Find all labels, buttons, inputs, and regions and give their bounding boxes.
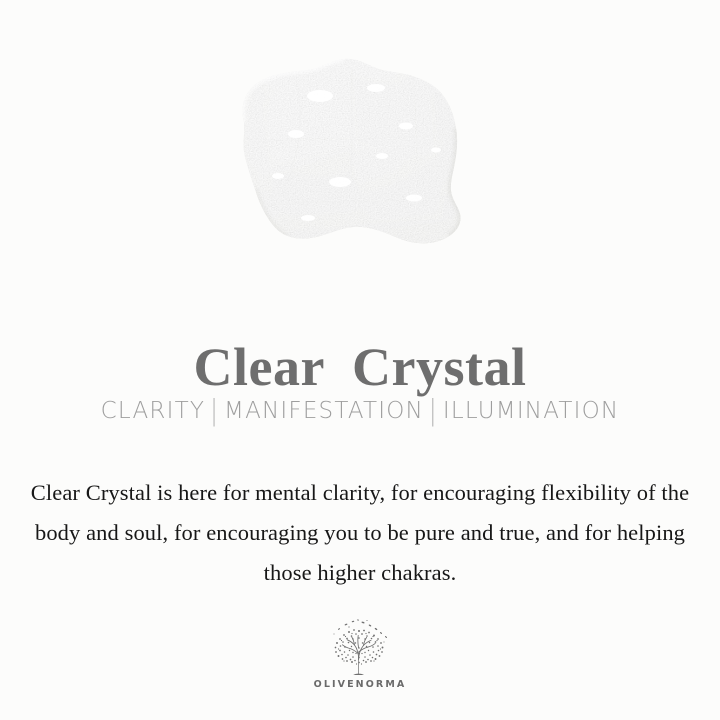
- product-description: Clear Crystal is here for mental clarity…: [28, 473, 692, 593]
- keyword-separator-2: |: [424, 393, 443, 430]
- keyword-illumination: ILLUMINATION: [443, 398, 619, 424]
- crystal-illustration: [200, 30, 490, 265]
- brand-logo: OLIVENORMA: [0, 618, 720, 690]
- crystal-image: [200, 30, 490, 265]
- product-info-card: Clear Crystal CLARITY|MANIFESTATION|ILLU…: [0, 0, 720, 720]
- keyword-separator-1: |: [205, 393, 224, 430]
- page-title: Clear Crystal: [0, 336, 720, 398]
- olive-tree-icon: [323, 618, 397, 676]
- brand-name: OLIVENORMA: [0, 679, 720, 690]
- keyword-manifestation: MANIFESTATION: [224, 398, 424, 424]
- keyword-clarity: CLARITY: [101, 398, 205, 424]
- keyword-bar: CLARITY|MANIFESTATION|ILLUMINATION: [0, 396, 720, 426]
